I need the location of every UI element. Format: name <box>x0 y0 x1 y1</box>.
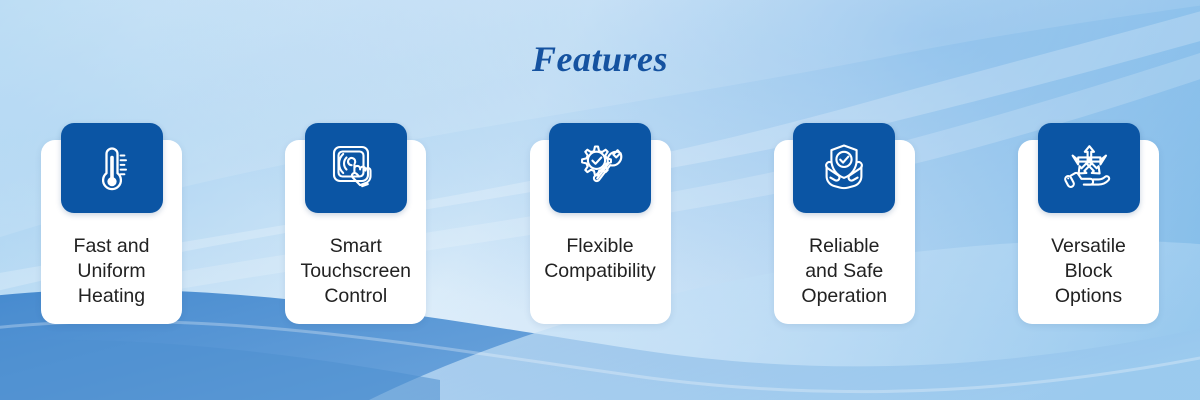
feature-card[interactable]: Fast and Uniform Heating <box>41 140 182 324</box>
touchscreen-hand-icon <box>329 142 383 194</box>
feature-icon-tile <box>793 123 895 213</box>
gear-check-wrench-icon <box>573 142 627 194</box>
features-banner: Features Fast and Uniform Heating <box>0 0 1200 400</box>
feature-label: Versatile Block Options <box>1021 234 1156 309</box>
feature-card[interactable]: Flexible Compatibility <box>530 140 671 324</box>
page-title: Features <box>0 38 1200 80</box>
feature-icon-tile <box>61 123 163 213</box>
feature-card[interactable]: Versatile Block Options <box>1018 140 1159 324</box>
feature-card[interactable]: Reliable and Safe Operation <box>774 140 915 324</box>
feature-card-list: Fast and Uniform Heating Smart To <box>41 140 1159 324</box>
shield-check-hands-icon <box>816 142 872 194</box>
feature-card[interactable]: Smart Touchscreen Control <box>285 140 426 324</box>
feature-label: Reliable and Safe Operation <box>777 234 912 309</box>
hand-arrows-icon <box>1061 142 1117 194</box>
feature-icon-tile <box>549 123 651 213</box>
feature-label: Flexible Compatibility <box>533 234 668 284</box>
feature-label: Smart Touchscreen Control <box>288 234 423 309</box>
feature-icon-tile <box>305 123 407 213</box>
feature-icon-tile <box>1038 123 1140 213</box>
feature-label: Fast and Uniform Heating <box>44 234 179 309</box>
thermometer-icon <box>90 142 134 194</box>
